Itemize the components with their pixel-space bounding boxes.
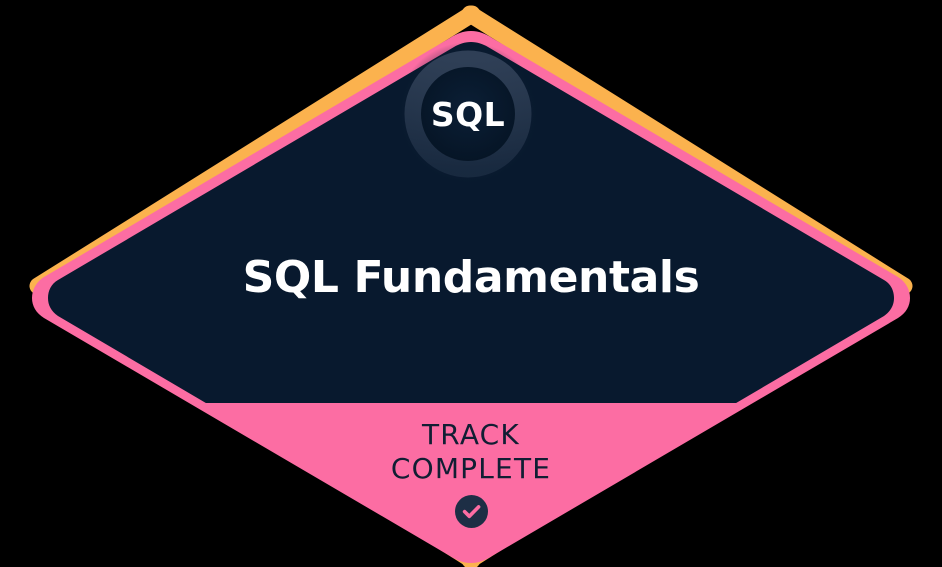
- badge-graphic: [0, 0, 942, 567]
- emblem-core: [421, 67, 515, 161]
- badge-canvas: SQL SQL Fundamentals TRACK COMPLETE: [0, 0, 942, 567]
